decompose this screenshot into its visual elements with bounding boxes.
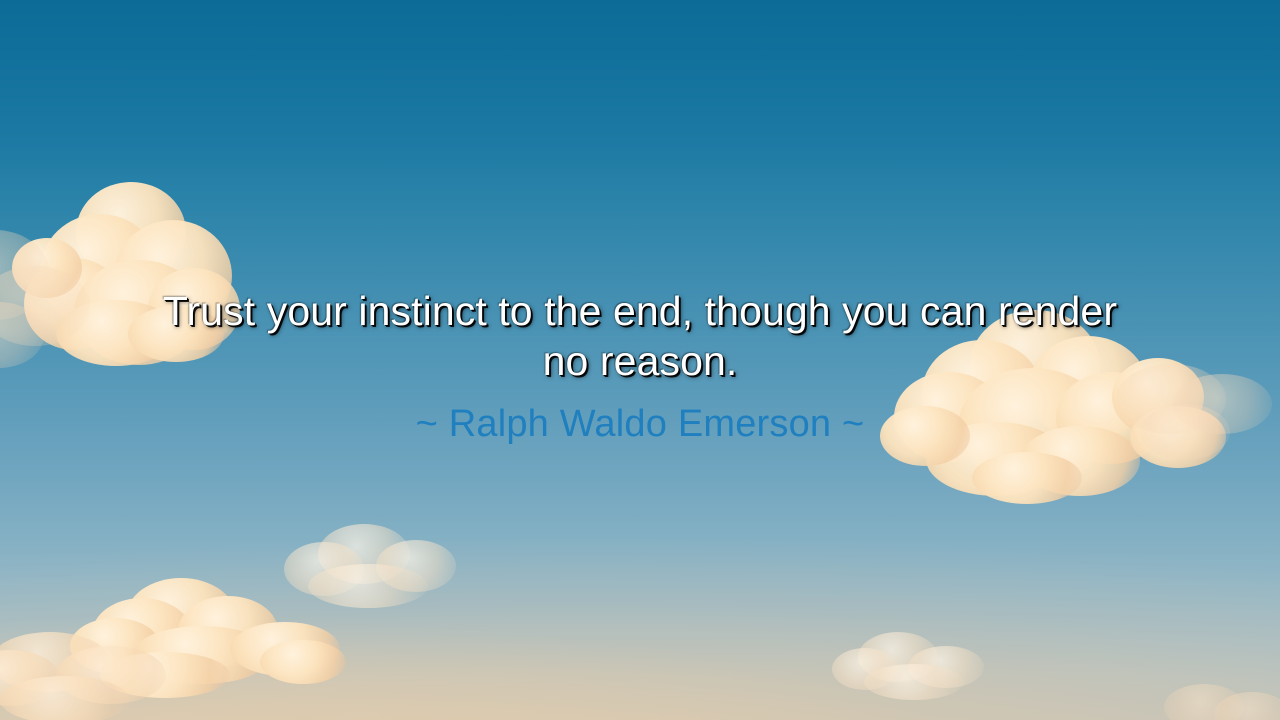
quote-block: Trust your instinct to the end, though y… <box>0 286 1280 446</box>
quote-author: ~ Ralph Waldo Emerson ~ <box>64 402 1216 446</box>
quote-text: Trust your instinct to the end, though y… <box>135 286 1145 386</box>
quote-image-canvas: Trust your instinct to the end, though y… <box>0 0 1280 720</box>
